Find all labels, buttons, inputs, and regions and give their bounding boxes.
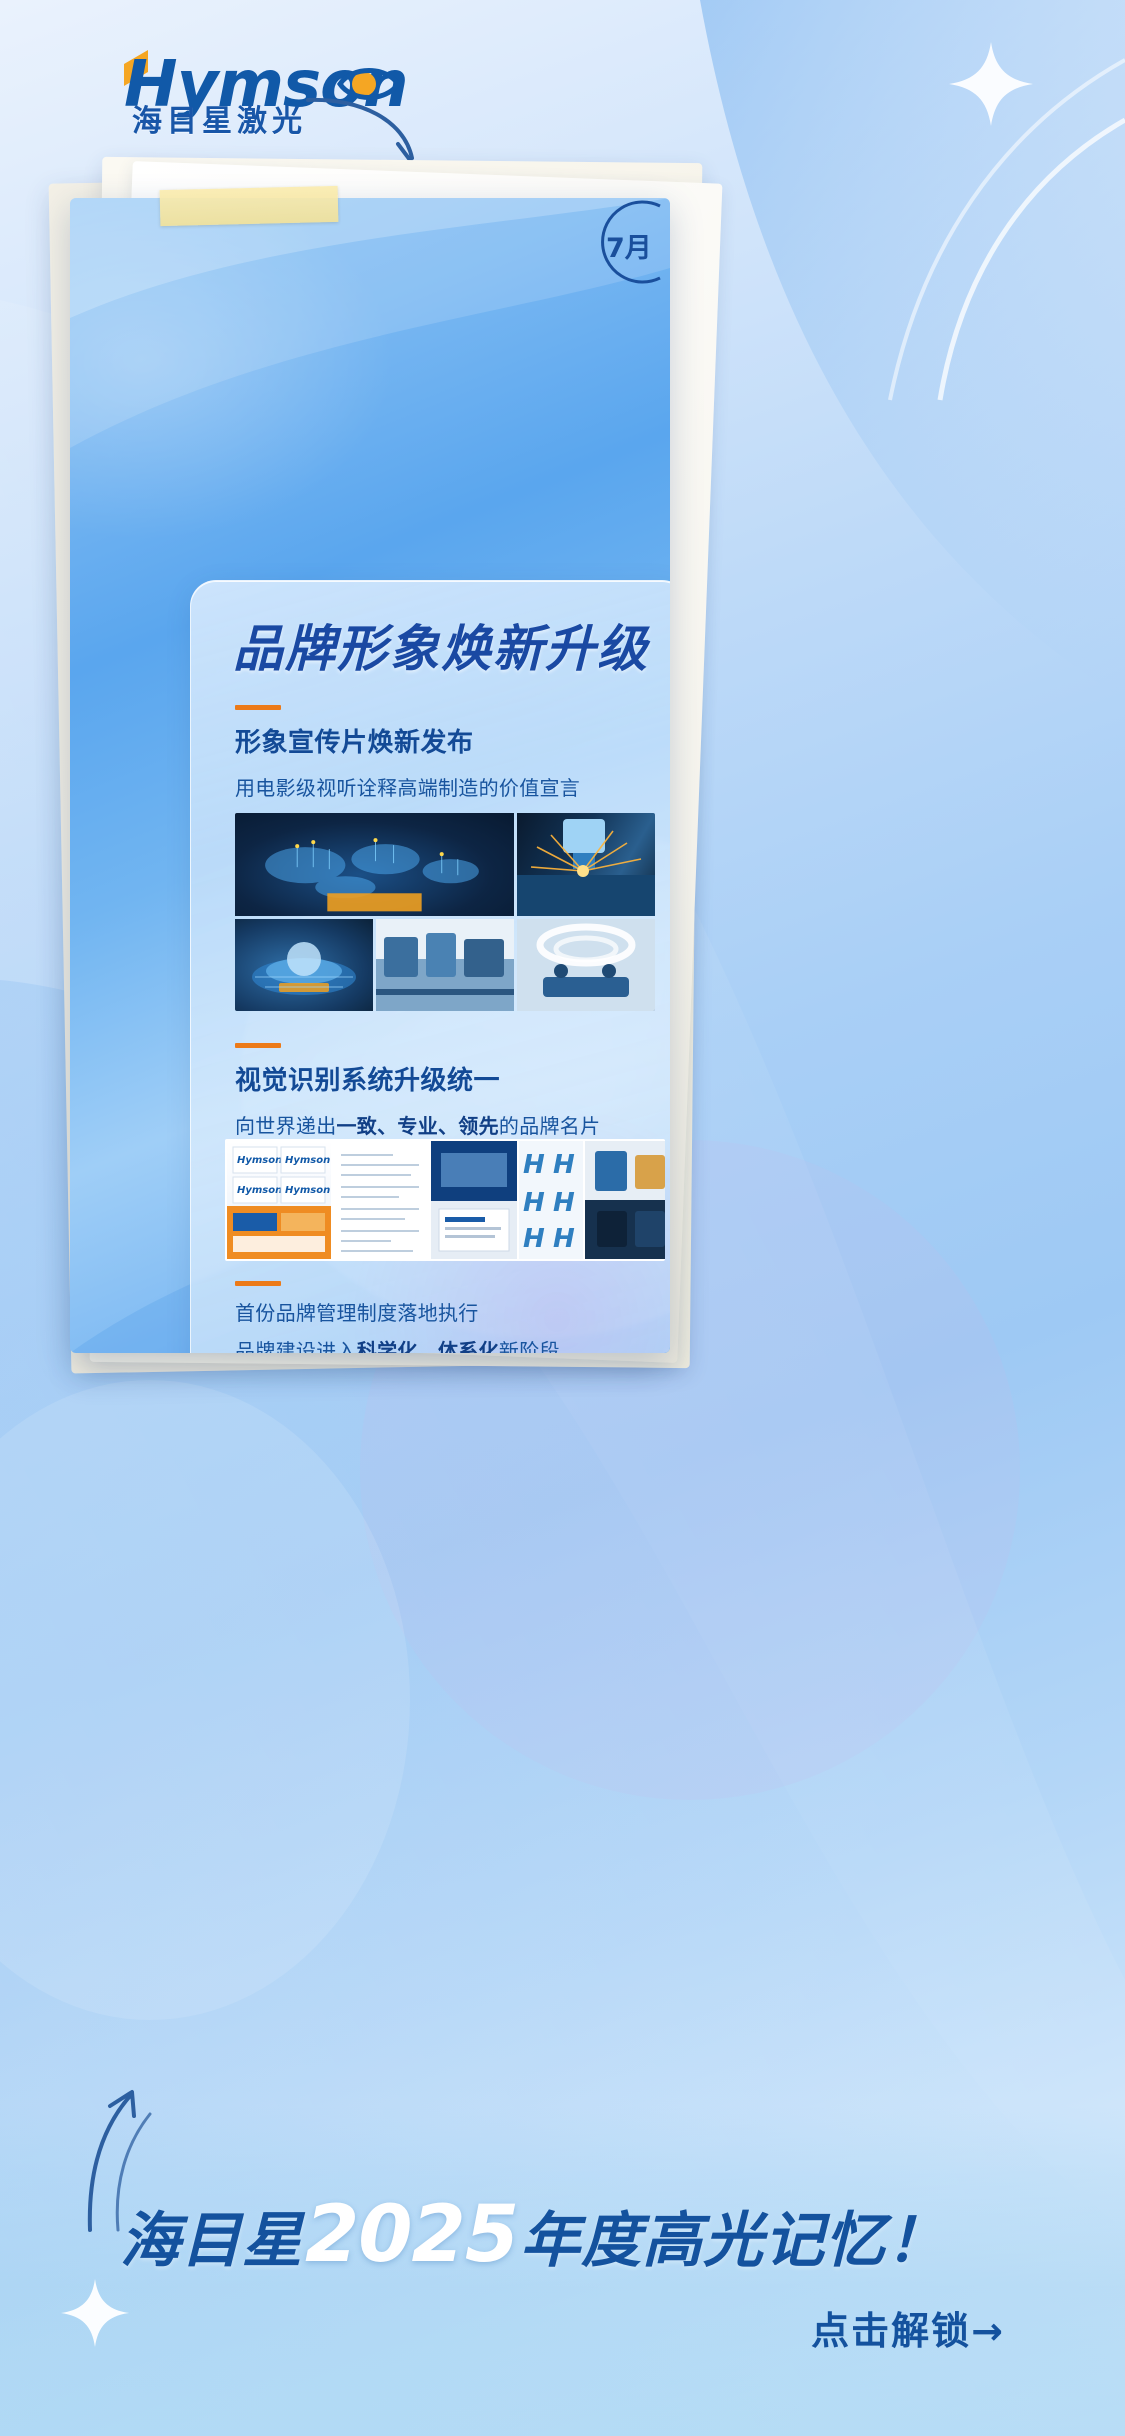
svg-text:H: H — [553, 1150, 575, 1180]
logo-mark-variants: HH HH HH — [519, 1141, 583, 1259]
brand-film-stills[interactable] — [235, 813, 655, 1011]
visual-identity-system-strip[interactable]: Hymson Hymson Hymson Hymson — [225, 1139, 665, 1261]
section-title: 首份品牌管理制度落地执行 — [235, 1298, 655, 1328]
factory-production-line-still — [376, 919, 514, 1011]
sparkle-icon — [945, 38, 1037, 130]
svg-text:H: H — [553, 1224, 575, 1254]
banner-prefix: 海目星 — [120, 2206, 303, 2276]
section-brand-management: 首份品牌管理制度落地执行 品牌建设进入科学化、体系化新阶段 — [235, 1281, 655, 1353]
section-dash — [235, 1043, 281, 1048]
subtitle-part-plain-2: 新阶段 — [499, 1339, 560, 1353]
svg-text:H: H — [553, 1188, 575, 1218]
section-subtitle: 品牌建设进入科学化、体系化新阶段 — [235, 1336, 655, 1353]
exhibition-hall-still — [517, 919, 655, 1011]
section-brand-film: 形象宣传片焕新发布 用电影级视听诠释高端制造的价值宣言 — [235, 705, 655, 803]
globe-hologram-still — [235, 919, 373, 1011]
sparkle-icon — [58, 2276, 132, 2350]
business-card-orange: Hymson Hymson Hymson Hymson — [227, 1141, 331, 1259]
svg-text:H: H — [523, 1188, 545, 1218]
section-title: 形象宣传片焕新发布 — [235, 722, 655, 759]
subtitle-part-bold: 一致、专业、领先 — [337, 1114, 499, 1138]
section-subtitle: 向世界递出一致、专业、领先的品牌名片 — [235, 1111, 655, 1141]
svg-text:Hymson: Hymson — [237, 1185, 282, 1196]
subtitle-part-plain: 向世界递出 — [235, 1114, 337, 1138]
poster-root: Hymson 海目星激光 品牌形象焕新升级 形象宣传片焕新发布 用 — [0, 0, 1125, 2436]
cta-unlock-link[interactable]: 点击解锁→ — [811, 2300, 1005, 2355]
section-subtitle: 用电影级视听诠释高端制造的价值宣言 — [235, 773, 655, 803]
svg-text:Hymson: Hymson — [237, 1155, 282, 1166]
world-map-network-still — [235, 813, 514, 916]
washi-tape — [160, 186, 339, 226]
subtitle-part-plain-2: 的品牌名片 — [499, 1114, 601, 1138]
subtitle-part-plain: 品牌建设进入 — [235, 1339, 357, 1353]
svg-text:H: H — [523, 1150, 545, 1180]
content-panel: 品牌形象焕新升级 形象宣传片焕新发布 用电影级视听诠释高端制造的价值宣言 — [190, 580, 670, 1353]
section-dash — [235, 1281, 281, 1286]
svg-text:H: H — [523, 1224, 545, 1254]
feature-card[interactable]: 品牌形象焕新升级 形象宣传片焕新发布 用电影级视听诠释高端制造的价值宣言 — [70, 198, 670, 1353]
brochure-cover-blue — [431, 1141, 517, 1259]
brand-logo-cn: 海目星激光 — [132, 96, 307, 140]
banner-year: 2025 — [305, 2190, 518, 2280]
subtitle-part-bold: 科学化、体系化 — [357, 1339, 499, 1353]
banner-suffix: 年度高光记忆！ — [520, 2206, 947, 2276]
month-badge: 7月 — [582, 200, 668, 286]
section-visual-identity: 视觉识别系统升级统一 向世界递出一致、专业、领先的品牌名片 — [235, 1043, 655, 1141]
svg-text:Hymson: Hymson — [285, 1155, 330, 1166]
month-badge-label: 7月 — [606, 226, 652, 265]
section-dash — [235, 705, 281, 710]
packaging-dark — [585, 1141, 665, 1259]
page-title: 品牌形象焕新升级 — [233, 609, 653, 681]
laser-cutting-sparks-still — [517, 813, 655, 916]
stationery-letterhead — [333, 1141, 429, 1259]
svg-text:Hymson: Hymson — [285, 1185, 330, 1196]
banner-headline: 海目星2025年度高光记忆！ — [120, 2190, 1020, 2280]
section-title: 视觉识别系统升级统一 — [235, 1060, 655, 1097]
